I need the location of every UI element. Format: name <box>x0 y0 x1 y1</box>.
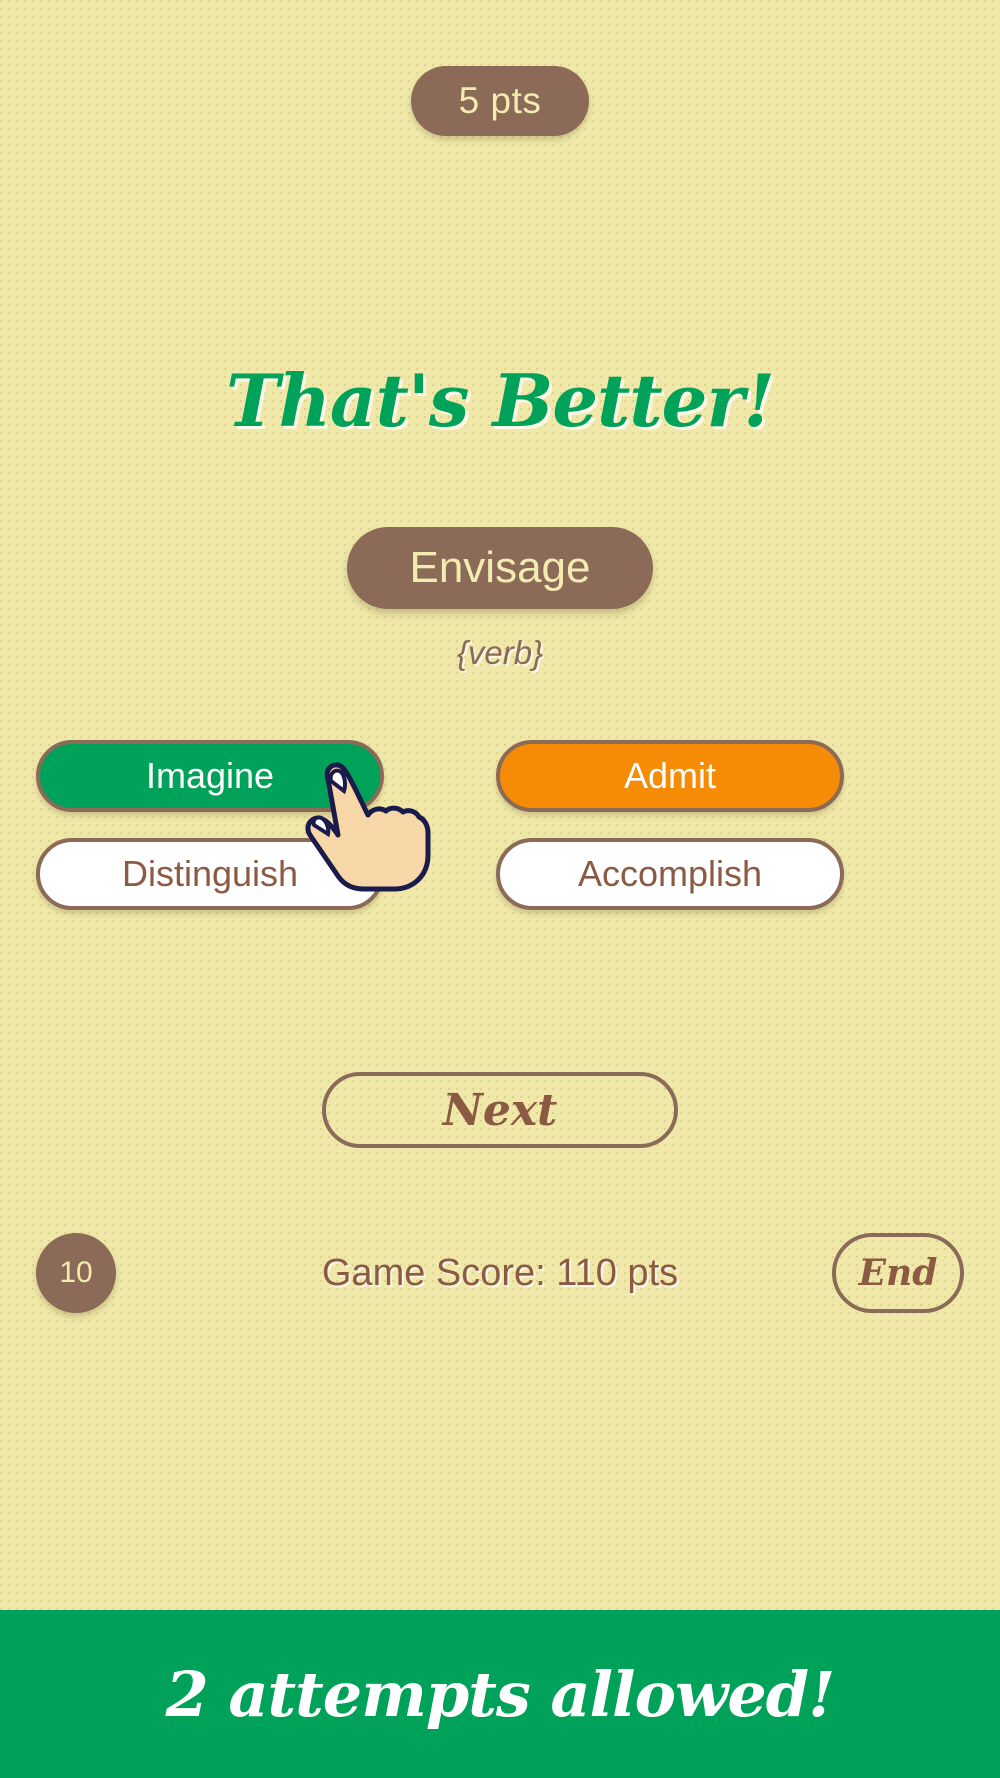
attempts-banner-text: 2 attempts allowed! <box>166 1658 835 1731</box>
answer-option-4-label: Accomplish <box>578 853 762 895</box>
answer-options-grid: Imagine Admit Distinguish Accomplish <box>36 740 844 910</box>
answer-option-3[interactable]: Distinguish <box>36 838 384 910</box>
feedback-headline: That's Better! <box>0 358 1000 443</box>
end-button[interactable]: End <box>832 1233 964 1313</box>
word-quiz-game-screen: { "theme": { "background_color": "#efe8a… <box>0 0 1000 1778</box>
prompt-word: Envisage <box>347 527 652 609</box>
next-button[interactable]: Next <box>322 1072 678 1148</box>
answer-option-4[interactable]: Accomplish <box>496 838 844 910</box>
end-button-label: End <box>859 1252 938 1294</box>
points-badge-container: 5 pts <box>0 66 1000 136</box>
answer-option-2-label: Admit <box>624 755 716 797</box>
answer-option-2[interactable]: Admit <box>496 740 844 812</box>
attempts-banner: 2 attempts allowed! <box>0 1610 1000 1778</box>
answer-option-3-label: Distinguish <box>122 853 298 895</box>
points-badge: 5 pts <box>411 66 590 136</box>
next-button-label: Next <box>443 1085 558 1136</box>
status-bar: 10 Game Score: 110 pts End <box>0 1232 1000 1314</box>
answer-option-1-label: Imagine <box>146 755 274 797</box>
answer-option-1[interactable]: Imagine <box>36 740 384 812</box>
part-of-speech-label: {verb} <box>0 634 1000 672</box>
prompt-word-container: Envisage <box>0 527 1000 609</box>
next-button-container: Next <box>0 1072 1000 1148</box>
